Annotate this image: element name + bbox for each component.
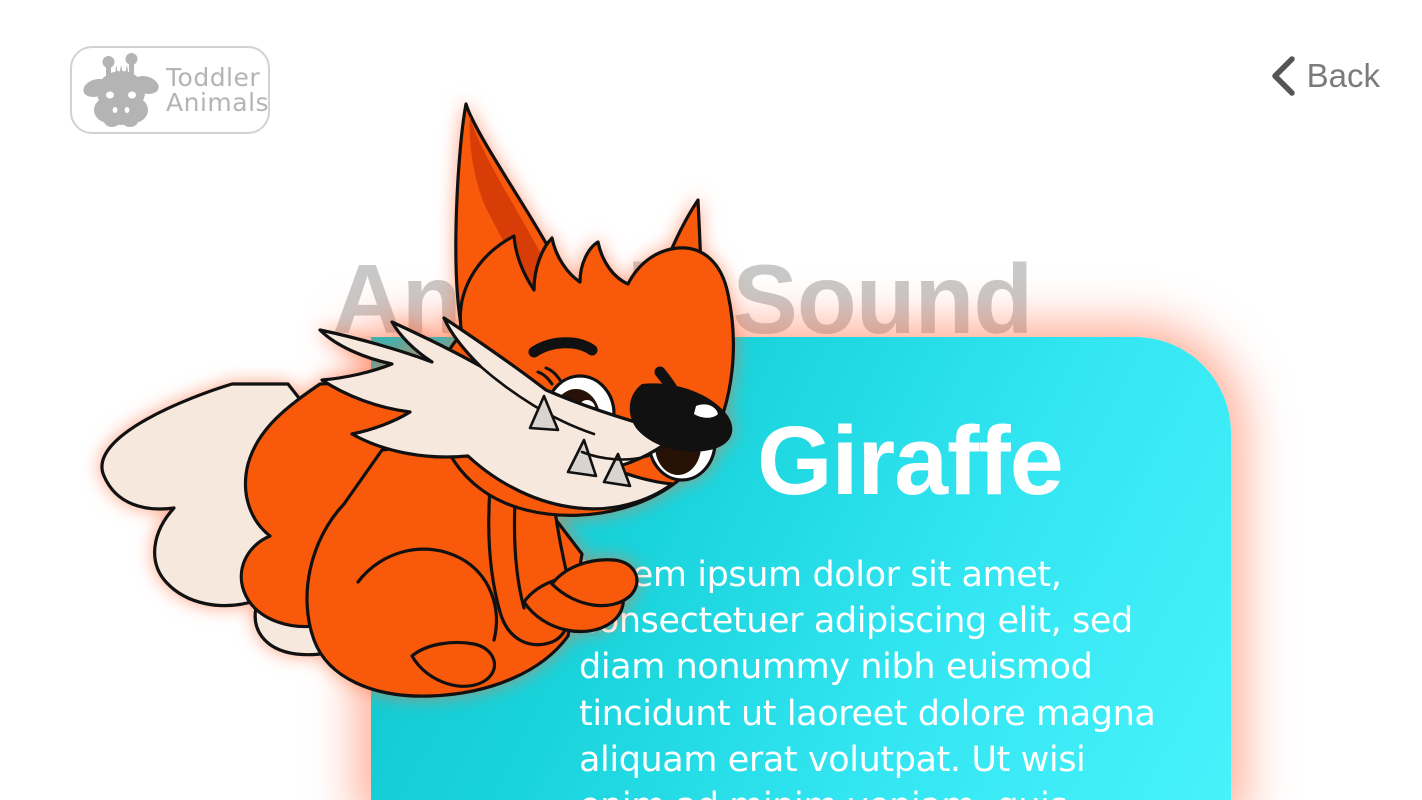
giraffe-silhouette-icon <box>80 51 164 129</box>
back-button[interactable]: Back <box>1269 55 1380 97</box>
app-logo-badge[interactable]: Toddler Animals <box>70 46 270 134</box>
app-logo-text: Toddler Animals <box>166 65 269 116</box>
app-screen: Animals Sound <box>0 0 1422 800</box>
back-button-label: Back <box>1307 57 1380 95</box>
app-logo-line2: Animals <box>166 90 269 116</box>
animal-description: Lorem ipsum dolor sit amet, consectetuer… <box>579 552 1159 800</box>
animal-title: Giraffe <box>757 412 1063 509</box>
content-card: Giraffe Lorem ipsum dolor sit amet, cons… <box>371 337 1231 800</box>
app-logo-line1: Toddler <box>166 65 269 91</box>
chevron-left-icon <box>1269 55 1297 97</box>
fox-tail-tip <box>102 384 392 655</box>
